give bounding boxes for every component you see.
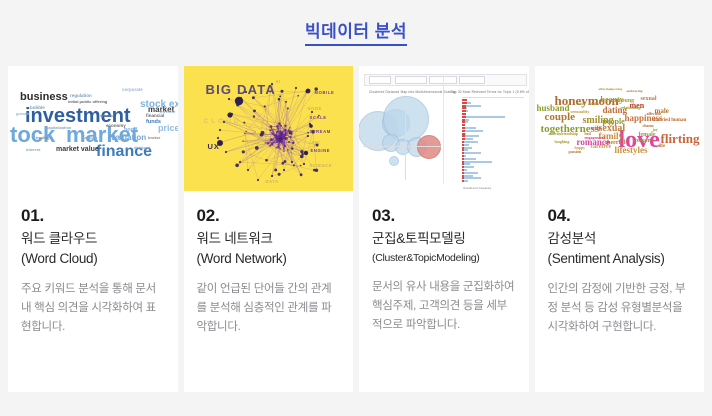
big-data-analysis-page: 빅데이터 분석 investmenttockmarketbusinessfina…: [0, 0, 712, 416]
term-frequency-bar: [462, 135, 479, 137]
selected-topic-bar: [462, 169, 464, 171]
selected-topic-bar: [462, 102, 467, 104]
right-chart-title: Top 30 Most Relevant Terms for Topic 1 (…: [451, 90, 529, 94]
card-description: 인간의 감정에 기반한 긍정, 부정 분석 등 감성 유형별분석을 시각화하여 …: [548, 280, 692, 337]
word-cloud-term: interest: [26, 148, 40, 152]
word-cloud-term: initial public offering: [68, 100, 107, 104]
word-cloud-term: banking: [82, 136, 97, 140]
dashboard-filter-chip[interactable]: [369, 76, 391, 84]
word-cloud-term: wife: [591, 126, 602, 132]
selected-topic-bar: [462, 166, 464, 168]
word-cloud-term: opening: [611, 88, 623, 92]
card-thumbnail-2[interactable]: BIG DATACLOUDUXMOBILESCALESTREAMAPIENGIN…: [184, 66, 354, 191]
word-cloud-term: joy: [653, 128, 658, 132]
word-cloud-term: married human: [653, 118, 687, 123]
word-cloud-term: business: [20, 92, 68, 103]
network-node-label: AI: [276, 79, 281, 84]
chart-legend-item: Overall term frequency: [463, 186, 491, 190]
selected-topic-bar: [462, 152, 464, 154]
network-node-label: SCIENCE: [310, 163, 333, 168]
card-description: 주요 키워드 분석을 통해 문서 내 핵심 의견을 시각화하여 표현합니다.: [21, 280, 165, 337]
network-node-label: UX: [208, 142, 220, 151]
card-number: 01.: [21, 205, 165, 227]
card-title-en: (Cluster&TopicModeling): [372, 249, 516, 267]
selected-topic-bar: [462, 138, 465, 140]
word-cloud-term: flirting: [661, 132, 700, 145]
card-title-ko: 감성분석: [548, 229, 692, 249]
word-cloud-term: bond: [124, 128, 137, 134]
term-frequency-bar: [462, 177, 481, 179]
card-number: 04.: [548, 205, 692, 227]
word-cloud-term: bed: [585, 132, 591, 136]
selected-topic-bar: [462, 130, 465, 132]
selected-topic-bar: [462, 127, 465, 129]
cluster-axis: [405, 98, 406, 180]
card-thumbnail-4[interactable]: lovehoneymoontogethernessflirtingcoupleh…: [535, 66, 705, 191]
selected-topic-bar: [462, 110, 466, 112]
card-body-4: 04. 감성분석 (Sentiment Analysis) 인간의 감정에 기반…: [535, 191, 705, 337]
word-cloud-term: capitalization: [46, 126, 71, 130]
selected-topic-bar: [462, 113, 466, 115]
word-cloud-term: laughing: [555, 140, 570, 144]
word-cloud-term: women: [633, 138, 651, 144]
card-body-1: 01. 워드 클라우드 (Word Cloud) 주요 키워드 분석을 통해 문…: [8, 191, 178, 337]
analysis-card-cluster-topic[interactable]: Clustered Distance Map into Multidimensi…: [359, 66, 529, 392]
word-cloud-term: growth: [16, 112, 29, 116]
analysis-card-grid: investmenttockmarketbusinessfinancemarke…: [8, 66, 704, 392]
card-title-ko: 워드 네트워크: [197, 229, 341, 249]
dashboard-filter-chip[interactable]: [459, 76, 485, 84]
selected-topic-bar: [462, 158, 464, 160]
selected-topic-bar: [462, 147, 464, 149]
word-cloud-term: financial: [146, 114, 164, 119]
word-cloud-term: corporate: [122, 88, 143, 93]
page-title-wrap: 빅데이터 분석: [0, 22, 712, 46]
selected-topic-bar: [462, 124, 465, 126]
word-cloud-term: engagement: [585, 136, 605, 140]
network-node-label: SCALE: [310, 115, 327, 120]
term-frequency-bar: [462, 152, 481, 154]
word-network-thumbnail: BIG DATACLOUDUXMOBILESCALESTREAMAPIENGIN…: [184, 66, 354, 191]
term-frequency-bar: [462, 172, 478, 174]
selected-topic-bar: [462, 149, 464, 151]
term-frequency-bar: [462, 166, 474, 168]
card-body-3: 03. 군집&토픽모델링 (Cluster&TopicModeling) 문서의…: [359, 191, 529, 335]
word-cloud-term: broker: [148, 136, 160, 140]
term-frequency-bar: [462, 158, 476, 160]
word-cloud-term: cheerful: [605, 140, 626, 146]
cluster-bubble[interactable]: [389, 156, 399, 166]
selected-topic-bar: [462, 177, 464, 179]
network-node-label: BIG DATA: [206, 82, 277, 97]
word-cloud-term: young: [619, 98, 635, 104]
selected-topic-bar: [462, 180, 464, 182]
selected-topic-bar: [462, 141, 464, 143]
network-node-label: DATA: [266, 179, 279, 184]
card-description: 같이 언급된 단어들 간의 관계를 분석해 심층적인 관계를 파악합니다.: [197, 280, 341, 337]
card-number: 02.: [197, 205, 341, 227]
card-thumbnail-3[interactable]: Clustered Distance Map into Multidimensi…: [359, 66, 529, 191]
selected-topic-bar: [462, 119, 465, 121]
word-cloud-term: bubble: [30, 106, 45, 111]
word-cloud-thumbnail: investmenttockmarketbusinessfinancemarke…: [8, 66, 178, 191]
word-cloud-term: sensuality: [571, 110, 590, 115]
card-title-ko: 워드 클라우드: [21, 229, 165, 249]
card-title-en: (Word Network): [197, 249, 341, 269]
selected-topic-bar: [462, 116, 466, 118]
word-cloud-term: relationship: [621, 106, 641, 110]
sentiment-word-cloud-thumbnail: lovehoneymoontogethernessflirtingcoupleh…: [535, 66, 705, 191]
word-cloud-term: passion: [569, 150, 582, 154]
word-cloud-term: shares: [100, 114, 113, 118]
selected-topic-bar: [462, 144, 464, 146]
selected-topic-bar: [462, 135, 465, 137]
card-title-en: (Sentiment Analysis): [548, 249, 692, 269]
left-chart-title: Clustered Distance Map into Multidimensi…: [369, 90, 455, 94]
page-title: 빅데이터 분석: [305, 22, 407, 46]
word-cloud-term: trading: [36, 136, 50, 140]
card-title-ko: 군집&토픽모델링: [372, 229, 516, 249]
term-frequency-bar: [462, 161, 492, 163]
network-node-label: MOBILE: [315, 90, 335, 95]
network-node-label: NODE: [308, 106, 323, 111]
analysis-card-word-network[interactable]: BIG DATACLOUDUXMOBILESCALESTREAMAPIENGIN…: [184, 66, 354, 392]
card-title-en: (Word Cloud): [21, 249, 165, 269]
network-node-label: CLOUD: [204, 118, 242, 125]
word-cloud-term: people: [603, 118, 625, 126]
dashboard-filter-chip[interactable]: [395, 76, 427, 84]
word-cloud-term: investor: [160, 110, 176, 114]
word-cloud-term: sexual: [641, 96, 657, 102]
word-cloud-term: friendship: [561, 132, 579, 136]
cluster-bubble[interactable]: [417, 135, 441, 159]
word-cloud-term: affection: [647, 112, 662, 116]
cluster-axis: [363, 146, 441, 147]
word-cloud-term: market value: [56, 146, 99, 153]
term-frequency-bar: [462, 116, 505, 118]
card-number: 03.: [372, 205, 516, 227]
selected-topic-bar: [462, 172, 464, 174]
word-cloud-term: life: [659, 144, 666, 149]
word-cloud-term: husband: [537, 104, 570, 113]
word-cloud-term: economy: [106, 124, 126, 129]
word-cloud-term: valuation: [111, 134, 146, 142]
card-thumbnail-1[interactable]: investmenttockmarketbusinessfinancemarke…: [8, 66, 178, 191]
card-body-2: 02. 워드 네트워크 (Word Network) 같이 언급된 단어들 간의…: [184, 191, 354, 337]
selected-topic-bar: [462, 99, 467, 101]
selected-topic-bar: [462, 163, 464, 165]
selected-topic-bar: [462, 121, 465, 123]
selected-topic-bar: [462, 107, 466, 109]
analysis-card-sentiment[interactable]: lovehoneymoontogethernessflirtingcoupleh…: [535, 66, 705, 392]
card-description: 문서의 유사 내용을 군집화하여 핵심주제, 고객의견 등을 세부적으로 파악합…: [372, 278, 516, 335]
network-node-label: STREAM: [310, 129, 331, 134]
word-cloud-term: price: [158, 124, 178, 133]
term-frequency-bar: [462, 130, 483, 132]
word-cloud-term: smile: [577, 102, 586, 106]
selected-topic-bar: [462, 161, 464, 163]
word-cloud-term: affection: [599, 88, 612, 92]
network-node-label: ENGINE: [311, 148, 331, 153]
selected-topic-bar: [462, 105, 466, 107]
analysis-card-word-cloud[interactable]: investmenttockmarketbusinessfinancemarke…: [8, 66, 178, 392]
word-cloud-term: adults: [589, 102, 599, 106]
cluster-dashboard-thumbnail: Clustered Distance Map into Multidimensi…: [359, 66, 529, 191]
selected-topic-bar: [462, 175, 464, 177]
bar-chart-axis: [462, 97, 524, 98]
network-node-label: API: [312, 140, 321, 145]
word-cloud-term: dividend: [134, 146, 150, 150]
selected-topic-bar: [462, 155, 464, 157]
word-cloud-term: activity: [549, 132, 562, 136]
word-cloud-term: regulation: [70, 94, 92, 99]
word-cloud-term: embracing: [627, 90, 643, 94]
selected-topic-bar: [462, 133, 465, 135]
word-cloud-term: lifestyles: [615, 146, 648, 155]
